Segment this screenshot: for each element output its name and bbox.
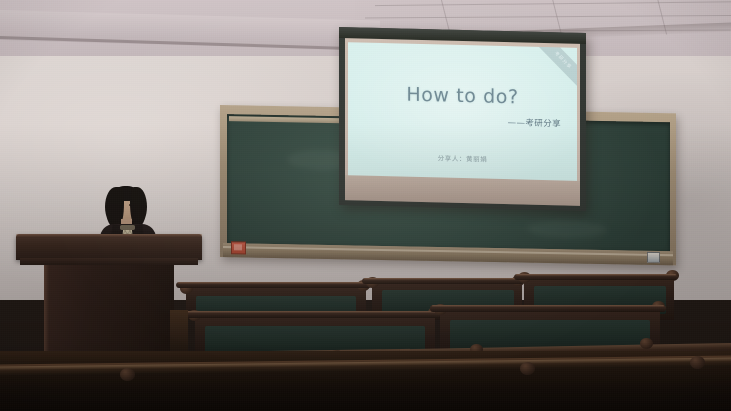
- slide-presenter-line: 分享人：黄丽娟: [348, 150, 577, 166]
- shirt-collar: [120, 225, 135, 230]
- projected-slide: 考研分享 How to do? ——考研分享 分享人：黄丽娟: [348, 42, 577, 181]
- slide-subtitle: ——考研分享: [508, 116, 561, 129]
- front-bench-knob: [690, 356, 705, 369]
- slide-title: How to do?: [348, 82, 577, 110]
- classroom-photo: 考研分享 How to do? ——考研分享 分享人：黄丽娟: [0, 0, 731, 411]
- hair-side-right: [130, 187, 147, 224]
- slide-corner-ribbon-label: 考研分享: [533, 42, 577, 91]
- front-bench-knob: [120, 368, 135, 381]
- front-bench-knob: [520, 362, 535, 375]
- projection-screen: 考研分享 How to do? ——考研分享 分享人：黄丽娟: [339, 27, 586, 211]
- chalk-box: [231, 241, 246, 254]
- podium-top: [16, 234, 202, 260]
- seating-area: [0, 258, 731, 411]
